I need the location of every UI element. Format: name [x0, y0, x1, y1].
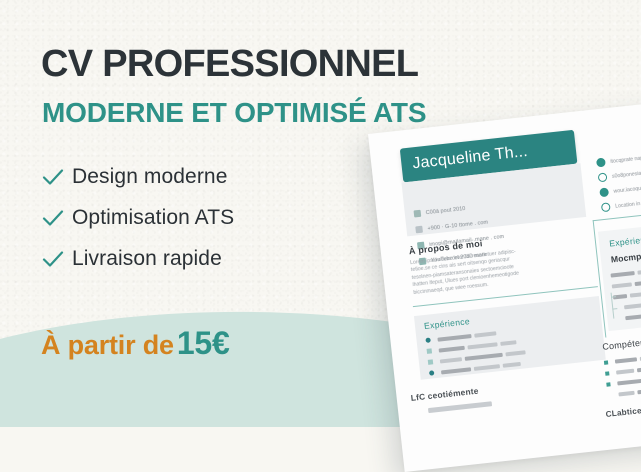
bullet-square-icon — [605, 371, 609, 375]
phone-circle-icon — [596, 158, 606, 168]
cv-contact-text: wour.iacoquanala.com — [613, 183, 641, 195]
cv-name-text: Jacqueline Th... — [412, 143, 529, 173]
cv-contact-text: itocqprate nappe.com — [610, 153, 641, 164]
cv-experience-right: Expérience Mocmpeelteneei — [598, 220, 641, 331]
cv-contact-list: itocqprate nappe.com s0o8ponesiane.com w… — [596, 145, 641, 215]
feature-label: Livraison rapide — [72, 247, 222, 271]
cv-document-card: Jacqueline Th... C00â pout 2010 +900 · G… — [368, 99, 641, 472]
price-amount: 15€ — [177, 325, 230, 361]
cv-placeholder-bars — [618, 387, 641, 396]
cv-info-text: +900 · G-10 ttome . com — [427, 219, 488, 232]
cv-experience-rows — [610, 259, 641, 325]
cv-preview-mockup: Jacqueline Th... C00â pout 2010 +900 · G… — [368, 99, 641, 462]
cv-skills-rows — [603, 344, 641, 401]
pin-circle-icon — [601, 202, 611, 212]
price-line: À partir de15€ — [41, 325, 230, 362]
cv-contact-text: s0o8ponesiane.com — [612, 168, 641, 179]
list-item: Optimisation ATS — [40, 197, 234, 238]
bullet-dot-icon — [425, 337, 431, 343]
cv-section-heading: Expérience — [609, 228, 641, 249]
globe-circle-icon — [599, 187, 609, 197]
cv-footer-right-heading: CLabtice — [605, 406, 641, 419]
page-title: CV PROFESSIONNEL — [41, 44, 418, 84]
page-subtitle: MODERNE ET OPTIMISÉ ATS — [42, 98, 426, 128]
cv-placeholder-bar — [428, 401, 492, 413]
feature-label: Optimisation ATS — [72, 206, 234, 230]
cv-about-section: À propos de moi Lorem ipsul ndeic doter … — [408, 226, 597, 297]
promo-copy-block: CV PROFESSIONNEL MODERNE ET OPTIMISÉ ATS… — [0, 0, 400, 427]
check-icon — [40, 166, 66, 188]
mail-circle-icon — [598, 172, 608, 182]
phone-icon — [415, 226, 423, 234]
cv-skills-heading: Compétences — [602, 329, 641, 352]
cv-footer-left-heading: LfC ceotiémente — [410, 386, 479, 403]
price-prefix: À partir de — [41, 330, 174, 360]
calendar-icon — [414, 210, 422, 218]
bullet-square-icon — [427, 348, 433, 354]
list-item: Livraison rapide — [40, 238, 234, 279]
check-icon — [40, 207, 66, 229]
check-icon — [40, 248, 66, 270]
list-item: Design moderne — [40, 156, 234, 197]
cv-info-text: C00â pout 2010 — [426, 205, 466, 215]
cv-experience-left: Expérience — [414, 296, 606, 380]
feature-label: Design moderne — [72, 165, 228, 189]
bullet-square-icon — [428, 359, 434, 365]
cv-skills-section: Compétences — [602, 329, 641, 401]
cv-contact-text: Location in locations opilie — [615, 197, 641, 210]
cv-placeholder-bars — [615, 353, 641, 364]
bullet-dot-icon — [429, 370, 435, 376]
feature-list: Design moderne Optimisation ATS Livraiso… — [40, 156, 234, 279]
bullet-square-icon — [606, 382, 610, 386]
bullet-square-icon — [604, 360, 608, 364]
cv-placeholder-bars — [610, 266, 641, 277]
